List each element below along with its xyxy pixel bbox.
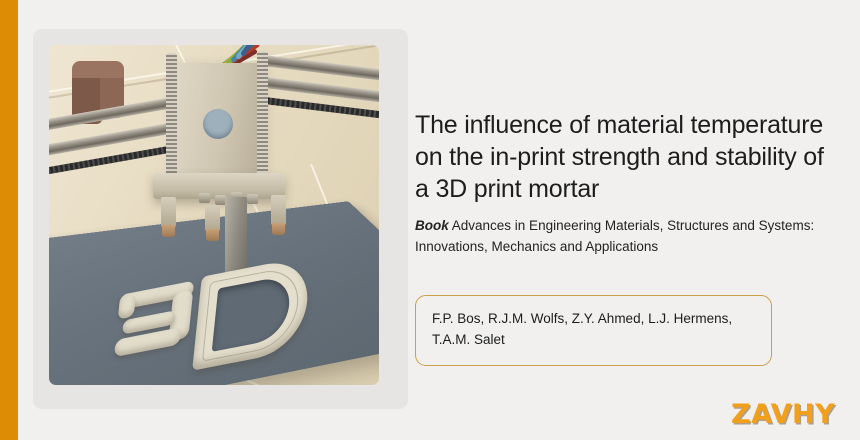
nozzle-tip (206, 229, 219, 241)
left-accent-bar (0, 0, 18, 440)
book-reference: Book Advances in Engineering Materials, … (415, 216, 835, 257)
threaded-rod (166, 53, 177, 179)
book-label: Book (415, 218, 449, 233)
printer-illustration (49, 45, 379, 385)
figure-card (33, 29, 408, 409)
carriage-bolt (247, 194, 258, 204)
illustration-scene (49, 45, 379, 385)
nozzle-tip (272, 223, 285, 235)
nozzle-leg (271, 195, 286, 225)
zavhy-logo: ZAVHY (731, 399, 835, 430)
authors-box: F.P. Bos, R.J.M. Wolfs, Z.Y. Ahmed, L.J.… (415, 295, 772, 366)
nozzle-leg (205, 205, 220, 231)
page-title: The influence of material temperature on… (415, 110, 835, 205)
authors-list: F.P. Bos, R.J.M. Wolfs, Z.Y. Ahmed, L.J.… (432, 309, 755, 351)
carriage-indicator (203, 109, 233, 139)
nozzle-tip (162, 225, 175, 237)
printer-carriage (175, 63, 263, 179)
book-title: Advances in Engineering Materials, Struc… (415, 218, 814, 253)
nozzle-leg (161, 197, 176, 227)
article-content: The influence of material temperature on… (415, 110, 835, 257)
carriage-bolt (199, 193, 210, 203)
threaded-rod (257, 51, 268, 177)
